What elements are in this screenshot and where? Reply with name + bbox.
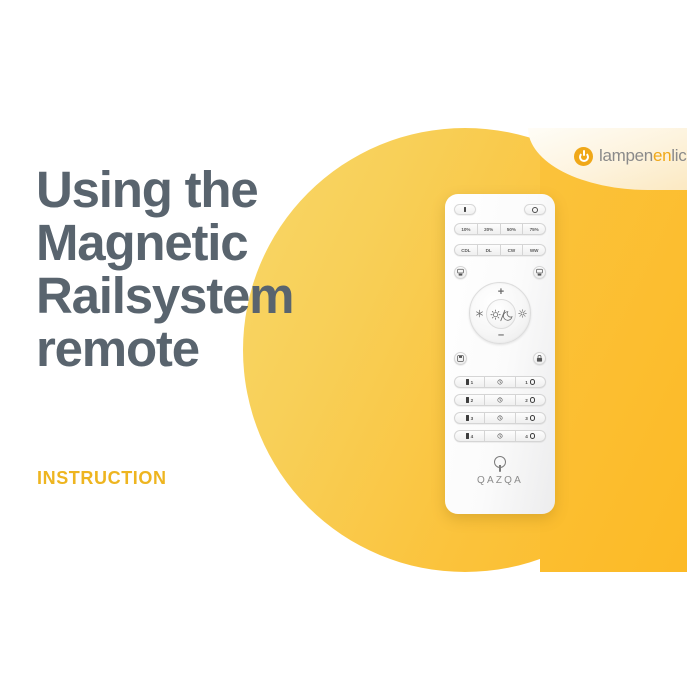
zone-row: 4 4 bbox=[454, 430, 546, 442]
zone-1-on[interactable]: 1 bbox=[455, 377, 485, 387]
logo-text-part-3: licht.n bbox=[671, 146, 687, 165]
zone-3-number: 3 bbox=[471, 416, 474, 421]
dial-center-button[interactable] bbox=[486, 299, 516, 329]
lampenlicht-wordmark: lampenenlicht.n bbox=[599, 146, 687, 166]
dial-decrease-label[interactable]: – bbox=[470, 330, 532, 341]
on-icon bbox=[466, 415, 468, 421]
color-temp-cw[interactable]: CW bbox=[501, 245, 524, 255]
zone-4-timer[interactable] bbox=[485, 431, 515, 441]
zone-2-number: 2 bbox=[471, 398, 474, 403]
lampenlicht-logo: lampenenlicht.n bbox=[574, 146, 687, 166]
zone-1-number-off: 1 bbox=[525, 380, 528, 385]
zone-2-off[interactable]: 2 bbox=[516, 395, 545, 405]
dial-increase-label[interactable]: + bbox=[470, 287, 532, 298]
zone-1-off[interactable]: 1 bbox=[516, 377, 545, 387]
page-kicker: INSTRUCTION bbox=[37, 468, 167, 489]
off-icon bbox=[530, 433, 536, 439]
zone-row: 1 1 bbox=[454, 376, 546, 388]
power-row bbox=[454, 204, 546, 215]
off-icon bbox=[530, 415, 536, 421]
logo-text-part-2: en bbox=[653, 146, 671, 165]
color-temp-ww[interactable]: WW bbox=[523, 245, 545, 255]
on-icon bbox=[466, 433, 468, 439]
zone-3-off[interactable]: 3 bbox=[516, 413, 545, 423]
zone-row: 3 3 bbox=[454, 412, 546, 424]
zone-3-on[interactable]: 3 bbox=[455, 413, 485, 423]
remote-brand: QAZQA bbox=[445, 456, 555, 486]
lock-button[interactable] bbox=[533, 352, 546, 365]
zone-4-off[interactable]: 4 bbox=[516, 431, 545, 441]
off-icon bbox=[530, 397, 536, 403]
brightness-preset-10[interactable]: 10% bbox=[455, 224, 478, 234]
page-title: Using the Magnetic Railsystem remote bbox=[36, 163, 366, 375]
brightness-dial[interactable]: + – bbox=[469, 282, 531, 344]
timer-icon bbox=[497, 397, 503, 403]
on-icon bbox=[466, 397, 468, 403]
timer-icon bbox=[497, 415, 503, 421]
all-on-button[interactable] bbox=[454, 204, 476, 215]
brand-name: QAZQA bbox=[445, 475, 555, 486]
logo-text-part-1: lampen bbox=[599, 146, 653, 165]
off-icon bbox=[530, 379, 536, 385]
zone-2-number-off: 2 bbox=[525, 398, 528, 403]
timer-icon bbox=[497, 433, 503, 439]
color-temp-dl[interactable]: DL bbox=[478, 245, 501, 255]
zone-4-number: 4 bbox=[471, 434, 474, 439]
scene-off-icon bbox=[535, 268, 544, 277]
brightness-preset-50[interactable]: 50% bbox=[501, 224, 524, 234]
background-right-fill bbox=[540, 128, 687, 572]
color-temperature-row: CDL DL CW WW bbox=[454, 244, 546, 256]
snowflake-icon[interactable] bbox=[473, 307, 486, 320]
brightness-preset-20[interactable]: 20% bbox=[478, 224, 501, 234]
sun-icon[interactable] bbox=[516, 307, 529, 320]
zone-4-on[interactable]: 4 bbox=[455, 431, 485, 441]
circle-icon bbox=[532, 207, 538, 213]
zone-row: 2 2 bbox=[454, 394, 546, 406]
bar-icon bbox=[464, 207, 466, 213]
scene-off-button[interactable] bbox=[533, 266, 546, 279]
remote-control: 10% 20% 50% 75% CDL DL CW WW + bbox=[445, 194, 555, 514]
sun-moon-icon bbox=[487, 300, 517, 330]
brightness-preset-75[interactable]: 75% bbox=[523, 224, 545, 234]
save-icon bbox=[456, 354, 465, 363]
scene-on-button[interactable] bbox=[454, 266, 467, 279]
scene-on-icon bbox=[456, 268, 465, 277]
all-off-button[interactable] bbox=[524, 204, 546, 215]
slide-canvas: lampenenlicht.n Using the Magnetic Rails… bbox=[0, 0, 687, 687]
zone-2-timer[interactable] bbox=[485, 395, 515, 405]
on-icon bbox=[466, 379, 468, 385]
zone-1-timer[interactable] bbox=[485, 377, 515, 387]
zone-3-timer[interactable] bbox=[485, 413, 515, 423]
color-temp-cdl[interactable]: CDL bbox=[455, 245, 478, 255]
brightness-preset-row: 10% 20% 50% 75% bbox=[454, 223, 546, 235]
power-button-icon bbox=[574, 147, 593, 166]
zone-2-on[interactable]: 2 bbox=[455, 395, 485, 405]
timer-icon bbox=[497, 379, 503, 385]
zone-1-number: 1 bbox=[471, 380, 474, 385]
save-scene-button[interactable] bbox=[454, 352, 467, 365]
zone-4-number-off: 4 bbox=[525, 434, 528, 439]
zone-3-number-off: 3 bbox=[525, 416, 528, 421]
padlock-icon bbox=[535, 354, 544, 363]
qazqa-lamp-icon bbox=[494, 456, 506, 472]
